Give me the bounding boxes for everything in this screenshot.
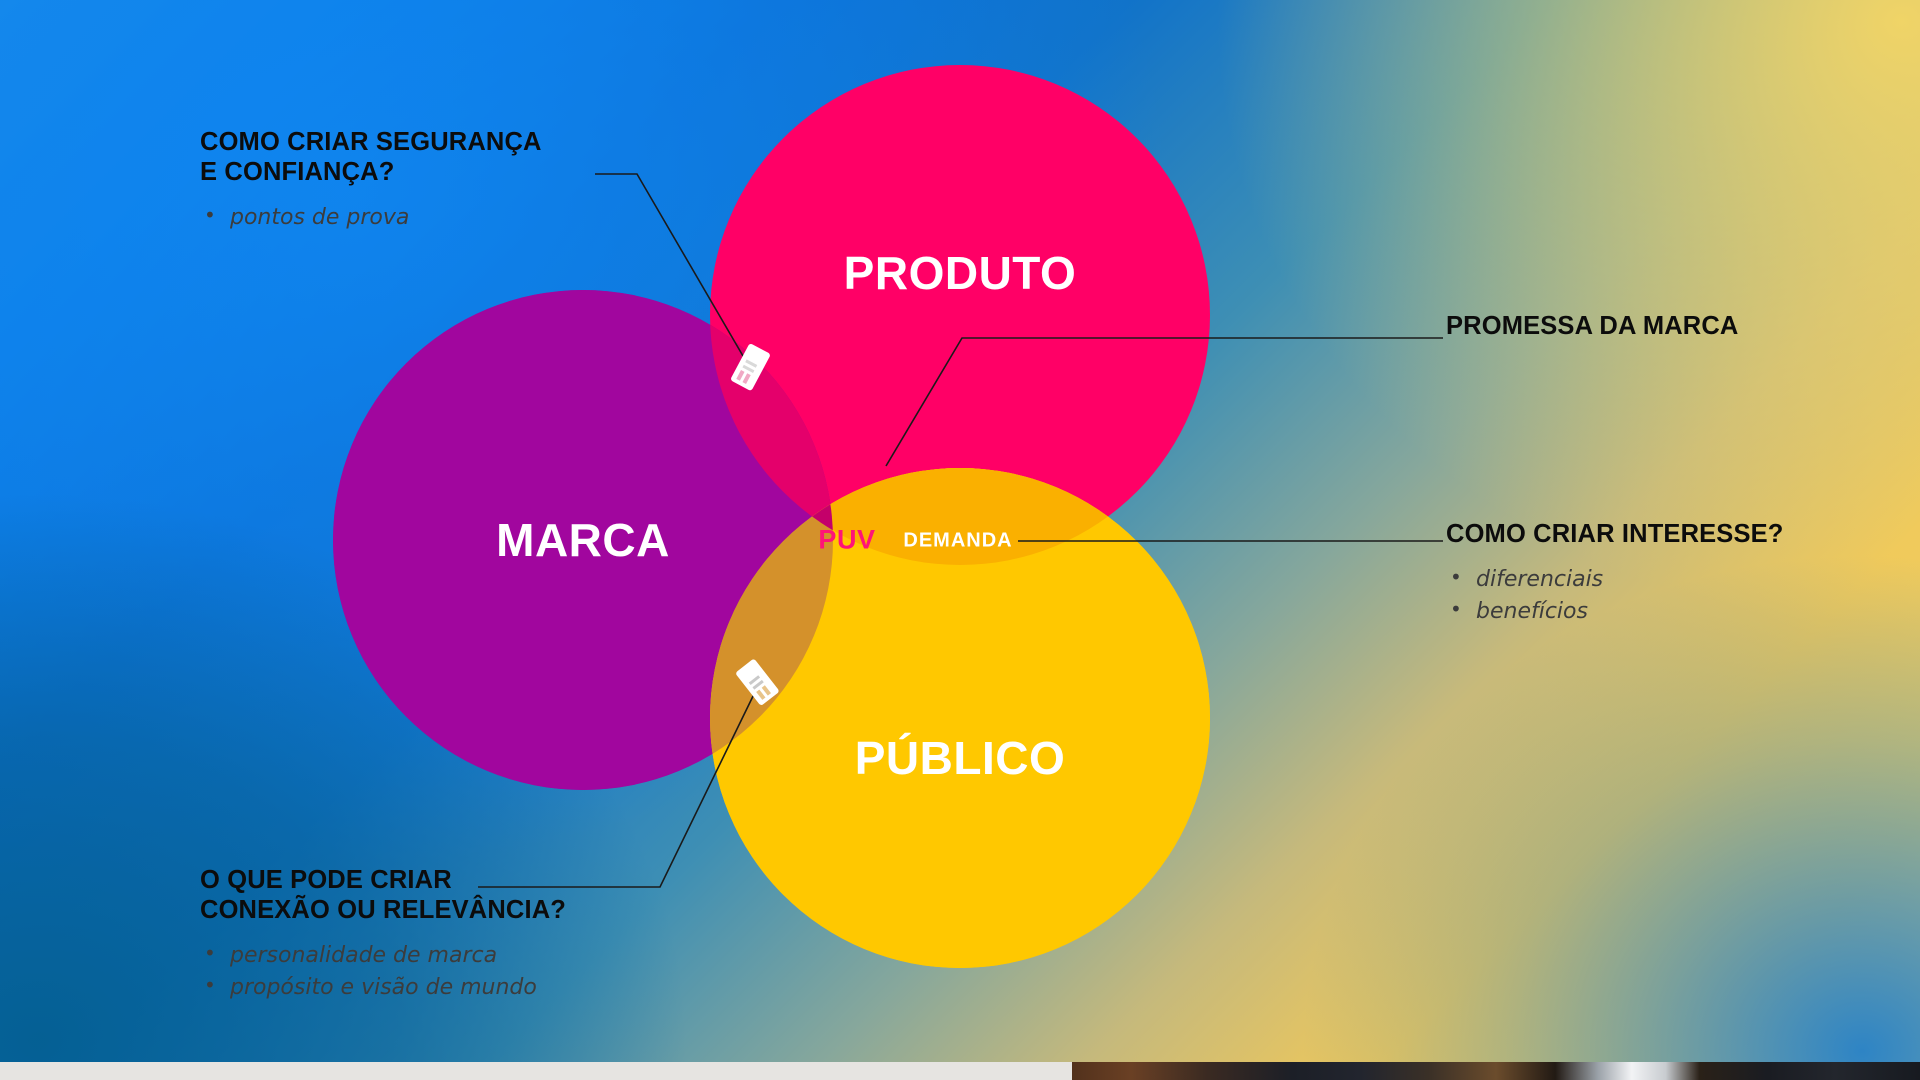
annotation-promessa-title: PROMESSA DA MARCA [1446, 312, 1876, 342]
annotation-conexao-list: personalidade de marca propósito e visão… [200, 940, 680, 1004]
venn-label-puv: PUV [818, 525, 875, 556]
filmstrip-thumbnail[interactable] [1072, 1062, 1920, 1080]
annotation-interesse-title: COMO CRIAR INTERESSE? [1446, 520, 1876, 550]
tag-marker-icon-produto-marca [730, 343, 771, 391]
list-item: benefícios [1446, 596, 1876, 628]
slide-filmstrip[interactable] [0, 1062, 1920, 1080]
venn-label-produto: PRODUTO [844, 246, 1077, 300]
list-item: pontos de prova [200, 202, 630, 234]
annotation-seguranca-list: pontos de prova [200, 202, 630, 234]
slide-canvas: PRODUTO MARCA PÚBLICO PUV DEMANDA COMO C… [0, 0, 1920, 1062]
annotation-interesse-list: diferenciais benefícios [1446, 564, 1876, 628]
annotation-seguranca: COMO CRIAR SEGURANÇA E CONFIANÇA? pontos… [200, 128, 630, 234]
list-item: personalidade de marca [200, 940, 680, 972]
annotation-promessa: PROMESSA DA MARCA [1446, 312, 1876, 342]
venn-label-publico: PÚBLICO [855, 731, 1066, 785]
annotation-conexao: O QUE PODE CRIAR CONEXÃO OU RELEVÂNCIA? … [200, 866, 680, 1003]
leader-line-conexao [478, 690, 756, 887]
tag-marker-icon-marca-publico [735, 658, 780, 706]
annotation-conexao-title: O QUE PODE CRIAR CONEXÃO OU RELEVÂNCIA? [200, 866, 680, 926]
list-item: diferenciais [1446, 564, 1876, 596]
leader-line-promessa [886, 338, 1443, 466]
annotation-seguranca-title: COMO CRIAR SEGURANÇA E CONFIANÇA? [200, 128, 630, 188]
annotation-interesse: COMO CRIAR INTERESSE? diferenciais benef… [1446, 520, 1876, 628]
venn-label-marca: MARCA [496, 513, 670, 567]
list-item: propósito e visão de mundo [200, 972, 680, 1004]
venn-label-demanda: DEMANDA [903, 530, 1012, 553]
